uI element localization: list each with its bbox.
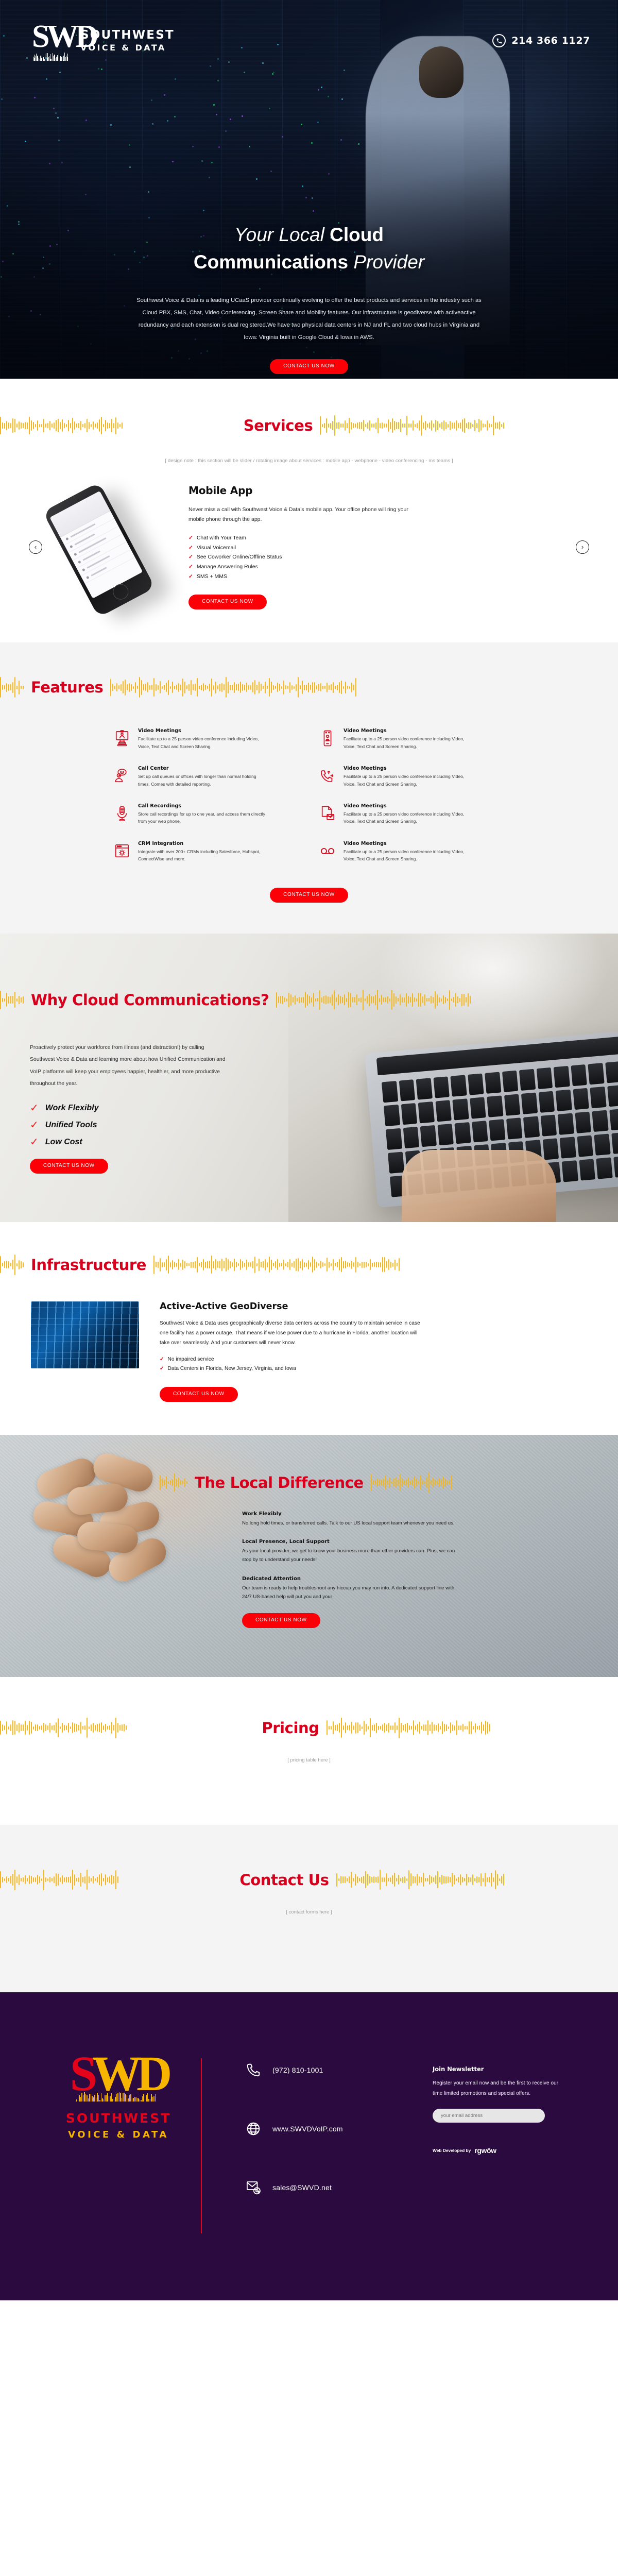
feature-title: Video Meetings (344, 841, 472, 846)
footer-inner: SWD SOUTHWEST VOICE & DATA (972) 810-100… (0, 2026, 618, 2239)
local-difference-block-heading: Dedicated Attention (242, 1576, 500, 1582)
check-icon: ✓ (188, 533, 193, 543)
features-heading: Features (0, 676, 618, 698)
feature-title: Call Recordings (138, 803, 267, 809)
local-difference-block-body: As your local provider, we get to know y… (242, 1547, 458, 1565)
feature-description: Facilitate up to a 25 person video confe… (344, 848, 472, 863)
list-item: ✓Data Centers in Florida, New Jersey, Vi… (160, 1364, 587, 1374)
feature-title: CRM Integration (138, 841, 267, 846)
why-cloud-content: Why Cloud Communications? Proactively pr… (0, 934, 618, 1174)
services-title: Services (244, 417, 313, 434)
waveform-right-icon (327, 1717, 618, 1739)
hero-headline-part2: Cloud (330, 224, 384, 245)
developed-by-label: Web Developed by (433, 2148, 471, 2153)
list-item: ✓SMS + MMS (188, 572, 569, 582)
local-difference-heading: The Local Difference (0, 1472, 618, 1494)
pricing-section: Pricing [ pricing table here ] (0, 1677, 618, 1825)
phone-icon (492, 34, 506, 47)
check-icon: ✓ (160, 1364, 164, 1374)
list-item-label: Low Cost (45, 1138, 82, 1147)
voicemail-icon (319, 841, 336, 861)
footer-developer-credit: Web Developed by rgwōw (433, 2146, 582, 2155)
mobile-app-copy: Mobile App Never miss a call with Southw… (188, 484, 569, 609)
phone-screen (49, 491, 143, 599)
waveform-right-icon (276, 989, 618, 1011)
footer-email-row[interactable]: sales@SWVD.net (246, 2180, 433, 2195)
hero-phone-number: 214 366 1127 (511, 35, 590, 46)
list-item-label: See Coworker Online/Offline Status (197, 552, 282, 562)
footer-name-line2: VOICE & DATA (36, 2129, 201, 2140)
waveform-icon (33, 53, 68, 61)
list-item-label: Data Centers in Florida, New Jersey, Vir… (168, 1364, 296, 1374)
contact-section: Contact Us [ contact forms here ] (0, 1825, 618, 1992)
local-difference-block-heading: Local Presence, Local Support (242, 1539, 500, 1545)
slider-next-arrow-icon[interactable]: › (576, 540, 589, 554)
feature-item: Video MeetingsFacilitate up to a 25 pers… (319, 766, 505, 788)
check-icon: ✓ (30, 1120, 39, 1130)
infrastructure-paragraph: Southwest Voice & Data uses geographical… (160, 1319, 427, 1348)
feature-item: Video MeetingsFacilitate up to a 25 pers… (113, 728, 299, 750)
feature-text: Video MeetingsFacilitate up to a 25 pers… (344, 841, 472, 863)
local-difference-copy: Work FlexiblyNo long hold times, or tran… (242, 1511, 500, 1602)
newsletter-email-input[interactable] (433, 2109, 545, 2123)
local-difference-contact-us-button[interactable]: CONTACT US NOW (242, 1613, 320, 1628)
site-footer: SWD SOUTHWEST VOICE & DATA (972) 810-100… (0, 1992, 618, 2300)
browser-gear-icon (113, 841, 131, 861)
list-item-label: Manage Answering Rules (197, 562, 258, 572)
feature-description: Facilitate up to a 25 person video confe… (344, 810, 472, 825)
waveform-right-icon (371, 1472, 618, 1494)
features-contact-us-button[interactable]: CONTACT US NOW (270, 888, 348, 903)
headset-agent-icon (113, 766, 131, 786)
swd-logo-mark: SWD (32, 22, 72, 60)
hero-headline: Your Local Cloud Communications Provider (62, 222, 556, 276)
local-difference-block-body: No long hold times, or transferred calls… (242, 1519, 458, 1528)
feature-item: Call CenterSet up call queues or offices… (113, 766, 299, 788)
contact-heading: Contact Us (0, 1869, 618, 1891)
developer-name: rgwōw (474, 2146, 496, 2155)
swd-monogram: SWD (32, 22, 72, 52)
features-title: Features (31, 679, 103, 696)
waveform-right-icon (110, 676, 618, 698)
pricing-placeholder-note: [ pricing table here ] (0, 1757, 618, 1763)
feature-text: Video MeetingsFacilitate up to a 25 pers… (344, 728, 472, 750)
footer-contact-details: (972) 810-1001 www.SWVDVoIP.com sales@SW… (202, 2026, 433, 2239)
slider-prev-arrow-icon[interactable]: ‹ (29, 540, 42, 554)
list-item: ✓Visual Voicemail (188, 543, 569, 553)
site-logo[interactable]: SWD SOUTHWEST VOICE & DATA (32, 22, 175, 60)
infrastructure-bullet-list: ✓No impaired service✓Data Centers in Flo… (160, 1355, 587, 1373)
check-icon: ✓ (160, 1355, 164, 1364)
services-slide: Mobile App Never miss a call with Southw… (42, 484, 576, 609)
mobile-app-paragraph: Never miss a call with Southwest Voice &… (188, 505, 410, 525)
list-item: ✓Low Cost (30, 1137, 288, 1147)
hero-headline-part3: Communications (194, 251, 353, 273)
contact-placeholder-note: [ contact forms here ] (0, 1909, 618, 1915)
video-monitor-icon (113, 728, 131, 749)
list-item: ✓Manage Answering Rules (188, 562, 569, 572)
waveform-left-icon (0, 1254, 24, 1276)
infrastructure-heading: Infrastructure (0, 1254, 618, 1276)
list-item: ✓No impaired service (160, 1355, 587, 1364)
list-item: ✓Work Flexibly (30, 1103, 288, 1113)
feature-item: Video MeetingsFacilitate up to a 25 pers… (319, 728, 505, 750)
feature-description: Facilitate up to a 25 person video confe… (138, 735, 267, 750)
why-cloud-cta-wrapper: CONTACT US NOW (30, 1159, 288, 1174)
check-icon: ✓ (30, 1137, 39, 1147)
services-slider: ‹ Mobile App Nev (0, 484, 618, 609)
services-heading: Services (0, 415, 618, 436)
services-section: Services [ design note : this section wi… (0, 379, 618, 642)
waveform-right-icon (320, 415, 618, 436)
list-item: ✓Unified Tools (30, 1120, 288, 1130)
feature-item: Video MeetingsFacilitate up to a 25 pers… (319, 803, 505, 825)
local-difference-block-heading: Work Flexibly (242, 1511, 500, 1517)
services-contact-us-button[interactable]: CONTACT US NOW (188, 595, 267, 609)
feature-text: CRM IntegrationIntegrate with over 200+ … (138, 841, 267, 863)
feature-description: Integrate with over 200+ CRMs including … (138, 848, 267, 863)
hero-phone-link[interactable]: 214 366 1127 (492, 34, 590, 47)
feature-title: Video Meetings (138, 728, 267, 734)
list-item-label: Unified Tools (45, 1121, 97, 1130)
list-item: ✓See Coworker Online/Offline Status (188, 552, 569, 562)
pricing-title: Pricing (262, 1719, 319, 1737)
hero-headline-part4: Provider (353, 251, 424, 273)
check-icon: ✓ (188, 562, 193, 572)
why-cloud-title: Why Cloud Communications? (31, 991, 269, 1009)
features-section: Features Video MeetingsFacilitate up to … (0, 642, 618, 934)
list-item-label: No impaired service (168, 1355, 214, 1364)
footer-name-line1: SOUTHWEST (36, 2111, 201, 2126)
local-difference-content: The Local Difference Work FlexiblyNo lon… (0, 1435, 618, 1628)
footer-logo[interactable]: SWD SOUTHWEST VOICE & DATA (36, 2026, 201, 2140)
footer-phone-number: (972) 810-1001 (272, 2066, 323, 2074)
waveform-left-icon (0, 676, 24, 698)
infrastructure-section: Infrastructure Active-Active GeoDiverse … (0, 1222, 618, 1435)
footer-swd-monogram: SWD (36, 2046, 201, 2108)
data-center-photo (31, 1301, 139, 1368)
local-difference-cta-wrapper: CONTACT US NOW (242, 1613, 500, 1628)
list-item-label: SMS + MMS (197, 572, 227, 582)
feature-text: Video MeetingsFacilitate up to a 25 pers… (344, 766, 472, 788)
waveform-left-icon (0, 1869, 232, 1891)
local-difference-block: Work FlexiblyNo long hold times, or tran… (242, 1511, 500, 1528)
check-icon: ✓ (188, 552, 193, 562)
waveform-right-icon (153, 1254, 618, 1276)
infrastructure-body: Active-Active GeoDiverse Southwest Voice… (0, 1276, 618, 1402)
services-design-note: [ design note : this section will be sli… (0, 458, 618, 464)
waveform-left-icon (0, 1717, 254, 1739)
feature-title: Video Meetings (344, 728, 472, 734)
why-cloud-contact-us-button[interactable]: CONTACT US NOW (30, 1159, 108, 1174)
list-item-label: Work Flexibly (45, 1104, 99, 1113)
hero-content: Your Local Cloud Communications Provider… (0, 222, 618, 374)
feature-text: Call CenterSet up call queues or offices… (138, 766, 267, 788)
feature-description: Set up call queues or offices with longe… (138, 773, 267, 788)
features-cta-wrapper: CONTACT US NOW (0, 888, 618, 903)
hero-section: SWD SOUTHWEST VOICE & DATA 214 366 1127 … (0, 0, 618, 379)
features-grid: Video MeetingsFacilitate up to a 25 pers… (113, 728, 505, 863)
waveform-icon (76, 2092, 156, 2102)
why-cloud-copy: Proactively protect your workforce from … (0, 1042, 288, 1174)
why-cloud-heading: Why Cloud Communications? (0, 989, 618, 1011)
hero-paragraph: Southwest Voice & Data is a leading UCaa… (134, 294, 484, 344)
footer-website-row[interactable]: www.SWVDVoIP.com (246, 2121, 433, 2137)
mobile-app-title: Mobile App (188, 484, 569, 497)
infrastructure-cta-wrapper: CONTACT US NOW (160, 1387, 587, 1402)
waveform-left-icon (160, 1472, 187, 1494)
feature-description: Store call recordings for up to one year… (138, 810, 267, 825)
check-icon: ✓ (30, 1103, 39, 1113)
call-transfer-icon (319, 766, 336, 786)
phone-icon (246, 2062, 261, 2078)
feature-description: Facilitate up to a 25 person video confe… (344, 773, 472, 788)
why-cloud-paragraph: Proactively protect your workforce from … (30, 1042, 226, 1090)
waveform-left-icon (0, 989, 24, 1011)
why-cloud-benefit-list: ✓Work Flexibly✓Unified Tools✓Low Cost (30, 1103, 288, 1147)
envelope-at-icon (246, 2180, 261, 2195)
hero-cta-wrapper: CONTACT US NOW (62, 359, 556, 374)
local-difference-block-body: Our team is ready to help troubleshoot a… (242, 1584, 458, 1602)
pricing-heading: Pricing (0, 1717, 618, 1739)
feature-title: Video Meetings (344, 803, 472, 809)
hero-headline-part1: Your Local (234, 224, 330, 245)
local-difference-block: Dedicated AttentionOur team is ready to … (242, 1576, 500, 1602)
feature-title: Call Center (138, 766, 267, 771)
contact-title: Contact Us (239, 1871, 329, 1889)
list-item: ✓Chat with Your Team (188, 533, 569, 543)
footer-newsletter: Join Newsletter Register your email now … (433, 2026, 582, 2155)
mobile-video-icon (319, 728, 336, 749)
infrastructure-card-title: Active-Active GeoDiverse (160, 1301, 587, 1312)
newsletter-description: Register your email now and be the first… (433, 2078, 561, 2100)
newsletter-title: Join Newsletter (433, 2065, 582, 2073)
list-item-label: Visual Voicemail (197, 543, 236, 553)
hero-contact-us-button[interactable]: CONTACT US NOW (270, 359, 348, 374)
waveform-right-icon (336, 1869, 618, 1891)
waveform-left-icon (0, 415, 236, 436)
check-icon: ✓ (188, 543, 193, 553)
check-icon: ✓ (188, 572, 193, 582)
footer-email-address: sales@SWVD.net (272, 2183, 332, 2192)
globe-icon (246, 2121, 261, 2137)
mobile-app-cta-wrapper: CONTACT US NOW (188, 595, 569, 609)
mobile-app-phone-image (49, 488, 168, 606)
phone-device (43, 482, 155, 617)
footer-phone-row[interactable]: (972) 810-1001 (246, 2062, 433, 2078)
local-difference-title: The Local Difference (195, 1474, 364, 1492)
why-cloud-section: Why Cloud Communications? Proactively pr… (0, 934, 618, 1222)
microphone-icon (113, 803, 131, 824)
feature-text: Video MeetingsFacilitate up to a 25 pers… (138, 728, 267, 750)
list-item-label: Chat with Your Team (197, 533, 246, 543)
document-mail-icon (319, 803, 336, 824)
feature-item: CRM IntegrationIntegrate with over 200+ … (113, 841, 299, 863)
infrastructure-copy: Active-Active GeoDiverse Southwest Voice… (160, 1301, 587, 1402)
feature-item: Call RecordingsStore call recordings for… (113, 803, 299, 825)
infrastructure-contact-us-button[interactable]: CONTACT US NOW (160, 1387, 238, 1402)
hero-topbar: SWD SOUTHWEST VOICE & DATA 214 366 1127 (0, 22, 618, 60)
feature-description: Facilitate up to a 25 person video confe… (344, 735, 472, 750)
feature-item: Video MeetingsFacilitate up to a 25 pers… (319, 841, 505, 863)
feature-title: Video Meetings (344, 766, 472, 771)
feature-text: Video MeetingsFacilitate up to a 25 pers… (344, 803, 472, 825)
infrastructure-title: Infrastructure (31, 1256, 146, 1274)
mobile-app-feature-list: ✓Chat with Your Team✓Visual Voicemail✓Se… (188, 533, 569, 581)
feature-text: Call RecordingsStore call recordings for… (138, 803, 267, 825)
local-difference-block: Local Presence, Local SupportAs your loc… (242, 1539, 500, 1565)
local-difference-section: The Local Difference Work FlexiblyNo lon… (0, 1435, 618, 1677)
footer-website-url: www.SWVDVoIP.com (272, 2125, 343, 2133)
